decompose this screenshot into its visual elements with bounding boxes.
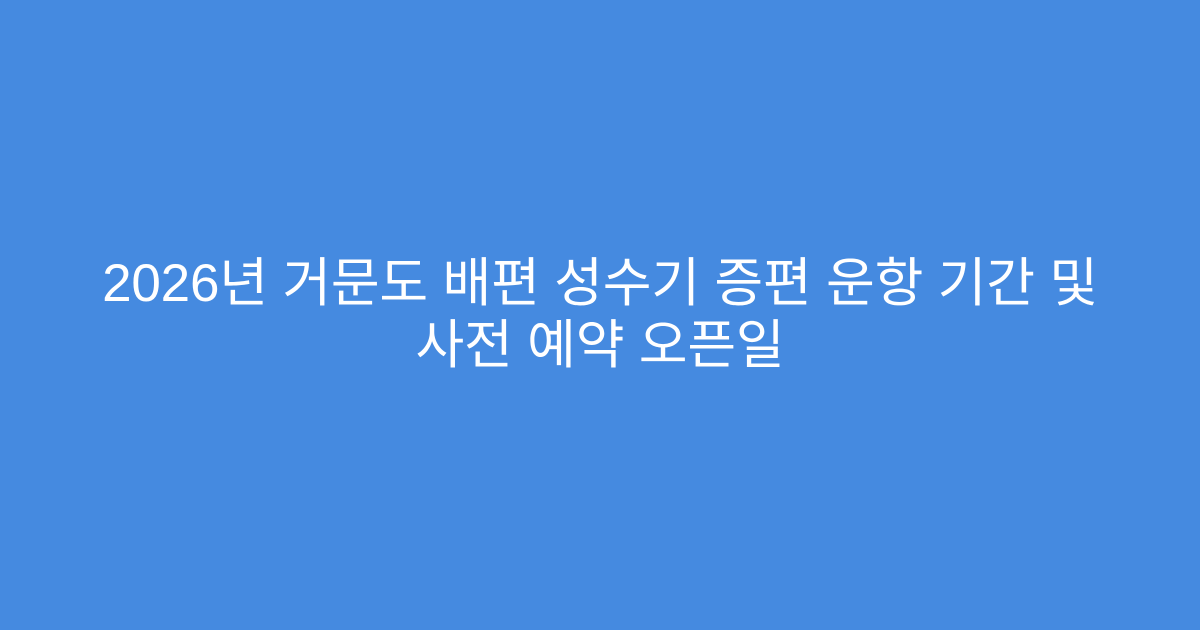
page-title: 2026년 거문도 배편 성수기 증편 운항 기간 및 사전 예약 오픈일 [60, 253, 1140, 377]
title-block: 2026년 거문도 배편 성수기 증편 운항 기간 및 사전 예약 오픈일 [60, 253, 1140, 377]
og-banner: 2026년 거문도 배편 성수기 증편 운항 기간 및 사전 예약 오픈일 [0, 0, 1200, 630]
